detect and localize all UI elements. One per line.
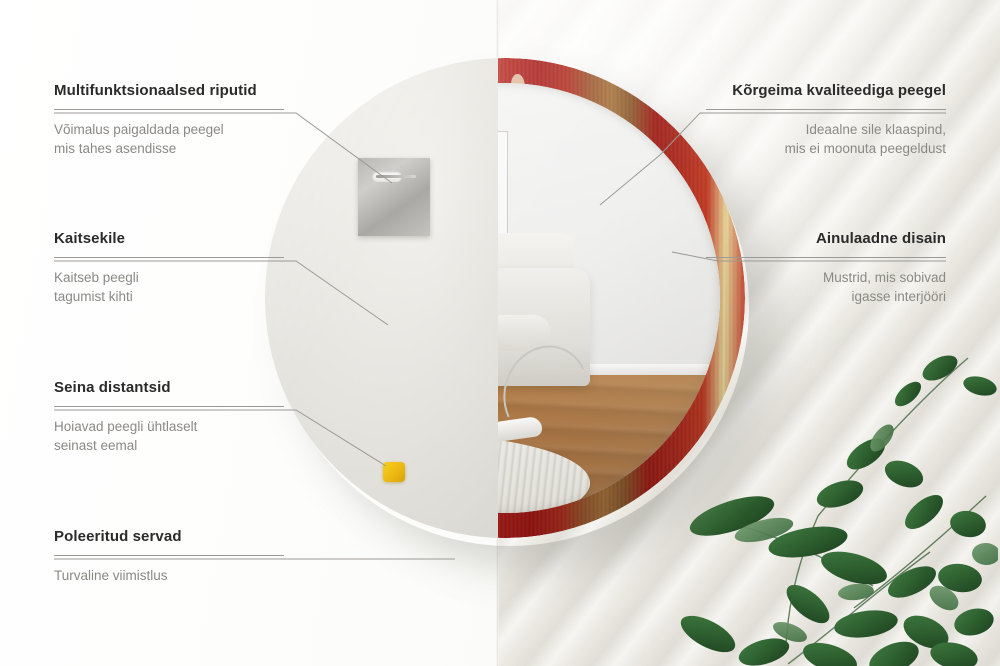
wall-spacer [383,462,405,482]
callout-description: Hoiavad peegli ühtlaseltseinast eemal [54,417,284,455]
callout-title: Seina distantsid [54,379,284,397]
callout-description: Võimalus paigaldada peegelmis tahes asen… [54,120,284,158]
mirror-product [265,58,755,554]
infographic-stage: Multifunktsionaalsed riputid Võimalus pa… [0,0,1000,666]
mirror-body [265,58,745,538]
callout-kaitsekile: Kaitsekile Kaitseb peeglitagumist kihti [54,230,284,306]
callout-title: Kaitsekile [54,230,284,248]
callout-description: Mustrid, mis sobivadigasse interjööri [706,268,946,306]
callout-description: Ideaalne sile klaaspind,mis ei moonuta p… [706,120,946,158]
callout-poleeritud-servad: Poleeritud servad Turvaline viimistlus [54,528,284,585]
callout-ainulaadne-disain: Ainulaadne disain Mustrid, mis sobivadig… [706,230,946,306]
callout-rule [706,257,946,258]
callout-korgeima-kvaliteediga-peegel: Kõrgeima kvaliteediga peegel Ideaalne si… [706,82,946,158]
callout-rule [54,406,284,407]
mirror-back-surface [265,58,498,538]
callout-seina-distantsid: Seina distantsid Hoiavad peegli ühtlasel… [54,379,284,455]
callout-rule [54,257,284,258]
callout-title: Ainulaadne disain [706,230,946,248]
callout-rule [54,555,284,556]
callout-description: Kaitseb peeglitagumist kihti [54,268,284,306]
hanger-bar [376,175,416,178]
callout-title: Multifunktsionaalsed riputid [54,82,284,100]
callout-description: Turvaline viimistlus [54,566,284,585]
callout-rule [706,109,946,110]
callout-multifunktsionaalsed-riputid: Multifunktsionaalsed riputid Võimalus pa… [54,82,284,158]
callout-title: Poleeritud servad [54,528,284,546]
hanger-plate [358,158,430,236]
mirror-glass [498,83,720,513]
callout-rule [54,109,284,110]
callout-title: Kõrgeima kvaliteediga peegel [706,82,946,100]
